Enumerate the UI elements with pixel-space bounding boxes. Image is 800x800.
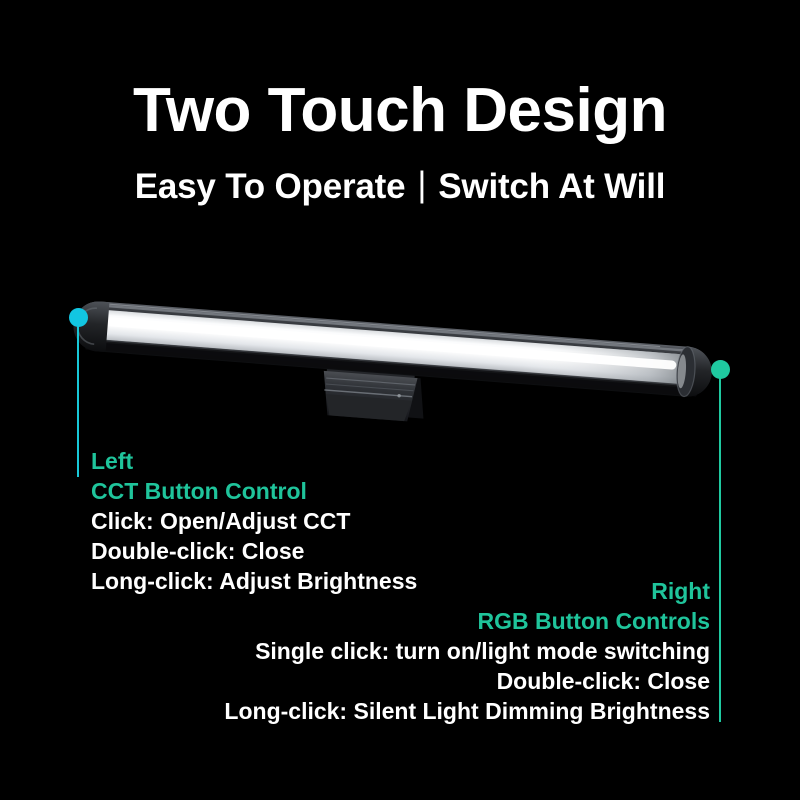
- left-callout-marker-dot: [69, 308, 88, 327]
- right-callout-marker-dot: [711, 360, 730, 379]
- subtitle-divider: |: [405, 166, 438, 205]
- right-callout-side: Right: [224, 576, 710, 606]
- right-callout-action-1: Single click: turn on/light mode switchi…: [224, 636, 710, 666]
- subtitle-right: Switch At Will: [438, 167, 665, 206]
- subtitle-left: Easy To Operate: [135, 167, 406, 206]
- right-callout-action-3: Long-click: Silent Light Dimming Brightn…: [224, 696, 710, 726]
- mount-bracket: [320, 363, 427, 423]
- right-callout-control: RGB Button Controls: [224, 606, 710, 636]
- page-title: Two Touch Design: [0, 78, 800, 143]
- right-callout-block: Right RGB Button Controls Single click: …: [224, 576, 710, 726]
- left-callout-leader-line: [77, 317, 79, 477]
- page-subtitle: Easy To Operate|Switch At Will: [0, 168, 800, 207]
- left-callout-side: Left: [91, 446, 417, 476]
- left-callout-action-1: Click: Open/Adjust CCT: [91, 506, 417, 536]
- left-callout-block: Left CCT Button Control Click: Open/Adju…: [91, 446, 417, 596]
- right-callout-action-2: Double-click: Close: [224, 666, 710, 696]
- right-callout-leader-line: [719, 369, 721, 722]
- left-callout-control: CCT Button Control: [91, 476, 417, 506]
- left-callout-action-2: Double-click: Close: [91, 536, 417, 566]
- right-end-cap: [675, 346, 714, 399]
